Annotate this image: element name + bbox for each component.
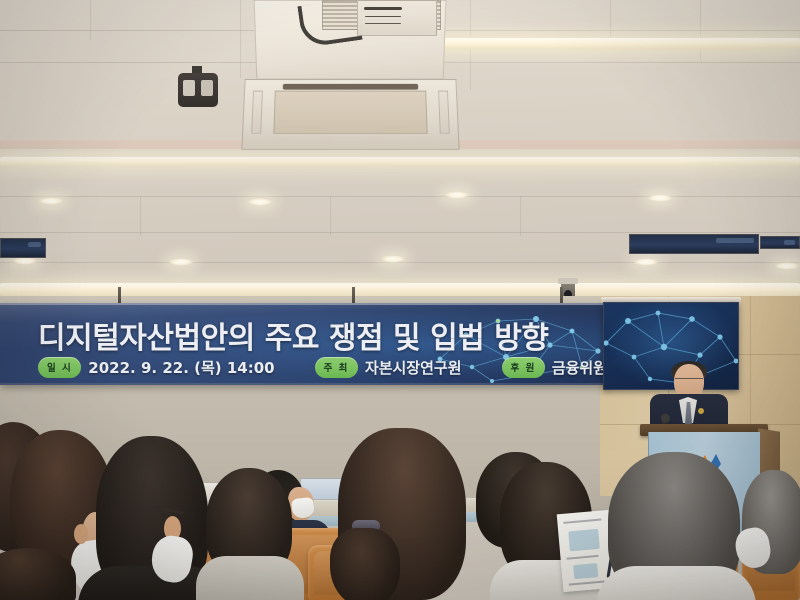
banner-support [118,287,121,303]
banner-value-host: 자본시장연구원 [365,357,462,378]
attendee-torso [196,556,304,600]
downlight [444,191,470,199]
cove-light-mid [0,157,800,166]
conference-photo: 디지털자산법안의 주요 쟁점 및 입법 방향 일 시 2022. 9. 22. … [0,0,800,600]
banner-value-date: 2022. 9. 22. (목) 14:00 [88,357,274,378]
downlight [168,258,194,266]
banner-label-sponsor: 후 원 [502,357,545,378]
downlight [647,194,673,202]
downlight [38,197,64,205]
downlight [380,255,406,263]
cove-light-upper [418,38,800,49]
recessed-ceiling-slot [760,236,800,249]
lapel-badge-icon [698,408,704,414]
downlight [633,258,659,266]
banner-support [352,287,355,303]
attendee-ponytail [330,528,400,600]
banner-label-host: 주 최 [315,357,358,378]
recessed-ceiling-slot [629,234,759,254]
downlight [247,198,273,206]
banner-support [560,287,563,303]
ac-cassette-unit [241,79,459,150]
ear [74,524,88,544]
banner-title: 디지털자산법안의 주요 쟁점 및 입법 방향 [38,313,548,357]
recessed-ceiling-slot [0,238,46,258]
downlight [12,257,38,265]
ac-internal-components [357,0,437,36]
banner-label-date: 일 시 [38,357,81,378]
banner-info-row: 일 시 2022. 9. 22. (목) 14:00 주 최 자본시장연구원 후… [38,357,612,378]
event-banner: 디지털자산법안의 주요 쟁점 및 입법 방향 일 시 2022. 9. 22. … [0,303,612,385]
attendee-torso [596,566,756,600]
eyeglasses-icon [675,378,703,384]
downlight [774,262,800,270]
ceiling-projector [178,73,218,107]
